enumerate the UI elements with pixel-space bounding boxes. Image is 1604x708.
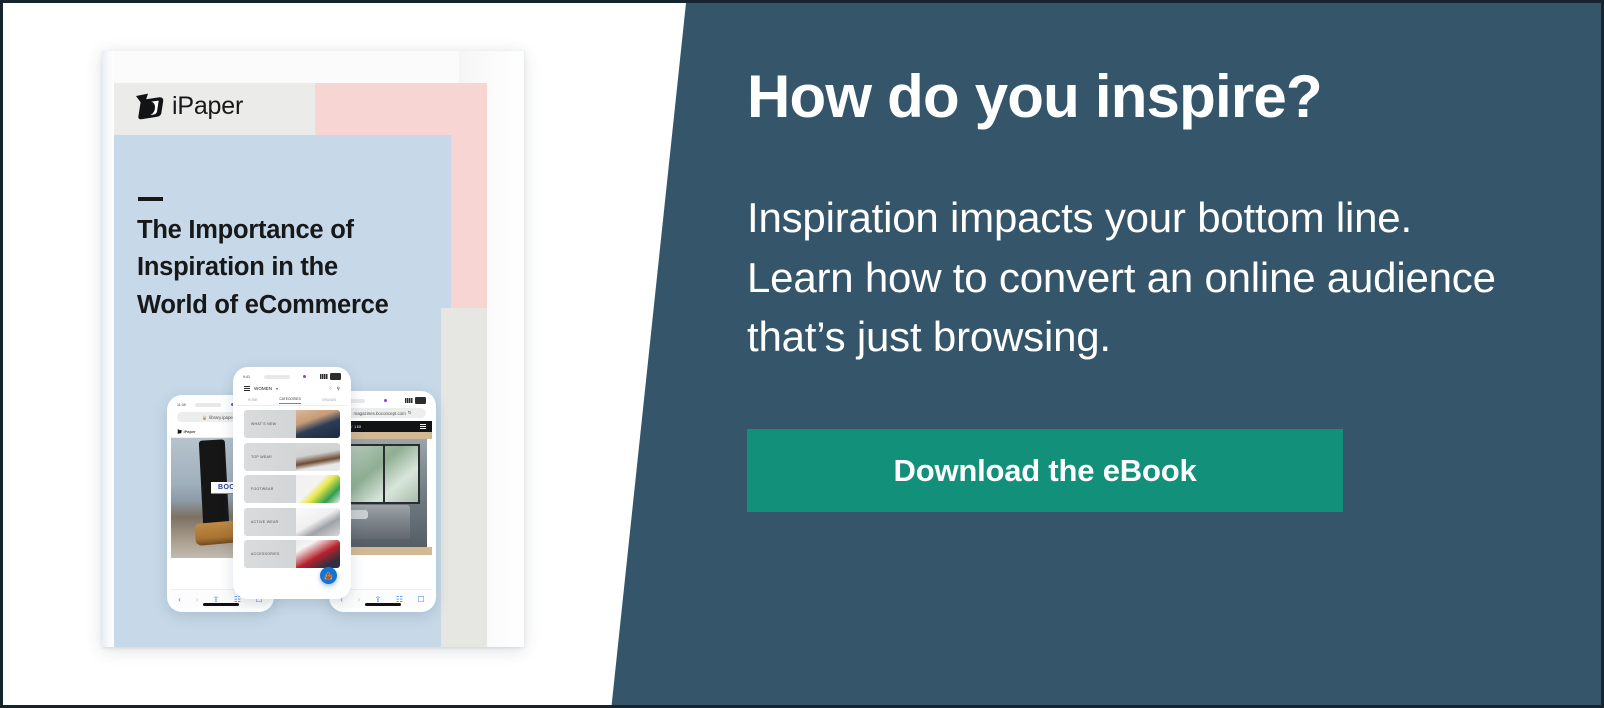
status-dot-icon xyxy=(384,399,387,402)
cover-title-line-3: World of eCommerce xyxy=(137,287,437,324)
download-ebook-button[interactable]: Download the eBook xyxy=(747,429,1343,512)
cover-title-line-2: Inspiration in the xyxy=(137,249,437,286)
phone-mockup-center: 9:41 WOMEN ▾ xyxy=(233,367,351,599)
list-item[interactable]: TOP WEAR xyxy=(244,443,340,471)
phone-right-status-icons xyxy=(405,397,426,404)
cover-title: The Importance of Inspiration in the Wor… xyxy=(137,212,437,324)
cover-title-line-1: The Importance of xyxy=(137,212,437,249)
promo-subheadline: Inspiration impacts your bottom line. Le… xyxy=(747,130,1507,367)
shop-header: WOMEN ▾ ♡ ⚲ xyxy=(237,382,347,395)
cover-gray-block xyxy=(441,308,487,647)
hamburger-icon[interactable] xyxy=(244,386,250,391)
interior-hero-image xyxy=(338,439,427,547)
status-dot-icon xyxy=(303,375,306,378)
tab-categories[interactable]: CATEGORIES xyxy=(279,397,300,404)
battery-icon xyxy=(415,397,426,404)
phone-center-status-icons xyxy=(320,373,341,380)
notch-icon xyxy=(195,403,221,407)
chevron-down-icon[interactable]: ▾ xyxy=(276,387,278,391)
tabs-icon[interactable]: ☐ xyxy=(418,595,425,604)
phone-left-time: 11:39 xyxy=(177,403,186,407)
home-indicator xyxy=(365,603,401,605)
ipaper-logo-text: iPaper xyxy=(172,94,243,119)
back-icon[interactable]: ‹ xyxy=(178,595,181,604)
shop-header-left: WOMEN ▾ xyxy=(244,386,278,391)
viewer-brand: iPaper xyxy=(177,429,196,434)
pillow-shape xyxy=(348,510,368,519)
tab-brands[interactable]: BRANDS xyxy=(322,398,336,402)
promo-content: How do you inspire? Inspiration impacts … xyxy=(747,63,1537,512)
list-item[interactable]: ACTIVE WEAR xyxy=(244,508,340,536)
shop-header-right: ♡ ⚲ xyxy=(329,386,340,392)
shop-tabs[interactable]: HOME CATEGORIES BRANDS xyxy=(237,395,347,406)
signal-icon xyxy=(320,374,328,379)
category-thumbnail xyxy=(296,410,340,438)
phone-center-status-bar: 9:41 xyxy=(237,371,347,382)
ipaper-logo-icon-small xyxy=(177,429,182,434)
category-thumbnail xyxy=(296,508,340,536)
category-thumbnail xyxy=(296,475,340,503)
phone-right-url-bar[interactable]: magazines.boconcept.com ↻ xyxy=(339,408,426,418)
category-label: WHAT'S NEW xyxy=(244,422,276,426)
hamburger-icon[interactable] xyxy=(420,424,426,429)
phone-center-screen: 9:41 WOMEN ▾ xyxy=(237,371,347,595)
list-item[interactable]: FOOTWEAR xyxy=(244,475,340,503)
forward-icon[interactable]: › xyxy=(357,595,360,604)
ebook-cover: iPaper The Importance of Inspiration in … xyxy=(102,51,524,647)
tab-home[interactable]: HOME xyxy=(248,398,258,402)
list-item[interactable]: WHAT'S NEW xyxy=(244,410,340,438)
promo-banner: iPaper The Importance of Inspiration in … xyxy=(0,0,1604,708)
notch-icon xyxy=(264,375,290,379)
ipaper-logo-icon xyxy=(135,93,165,120)
cover-title-rule xyxy=(138,197,163,201)
ebook-spine xyxy=(102,51,114,647)
search-icon[interactable]: ⚲ xyxy=(337,386,340,391)
category-list: WHAT'S NEW TOP WEAR FOOTWEAR xyxy=(237,406,347,572)
window-shape xyxy=(345,444,420,504)
reload-icon[interactable]: ↻ xyxy=(408,410,412,416)
category-label: ACCESSORIES xyxy=(244,552,280,556)
phone-center-time: 9:41 xyxy=(243,375,250,379)
category-label: FOOTWEAR xyxy=(244,487,274,491)
signal-icon xyxy=(405,398,413,403)
category-label: ACTIVE WEAR xyxy=(244,520,278,524)
category-thumbnail xyxy=(296,540,340,568)
phone-right-url: magazines.boconcept.com xyxy=(354,411,406,416)
lock-icon: 🔒 xyxy=(202,415,207,420)
phone-mockups: 11:39 🔒 library.ipaper.io xyxy=(157,347,447,647)
category-label: TOP WEAR xyxy=(244,455,272,459)
category-thumbnail xyxy=(296,443,340,471)
ipaper-logo: iPaper xyxy=(135,93,243,120)
ebook-panel: iPaper The Importance of Inspiration in … xyxy=(3,3,693,708)
battery-icon xyxy=(330,373,341,380)
gender-selector[interactable]: WOMEN xyxy=(254,386,272,391)
bag-icon[interactable]: 👜 xyxy=(320,567,337,584)
home-indicator xyxy=(203,603,239,605)
list-item[interactable]: ACCESSORIES xyxy=(244,540,340,568)
heart-icon[interactable]: ♡ xyxy=(329,386,333,391)
page-title: How do you inspire? xyxy=(747,63,1537,130)
forward-icon[interactable]: › xyxy=(195,595,198,604)
viewer-brand-text: iPaper xyxy=(184,429,196,434)
